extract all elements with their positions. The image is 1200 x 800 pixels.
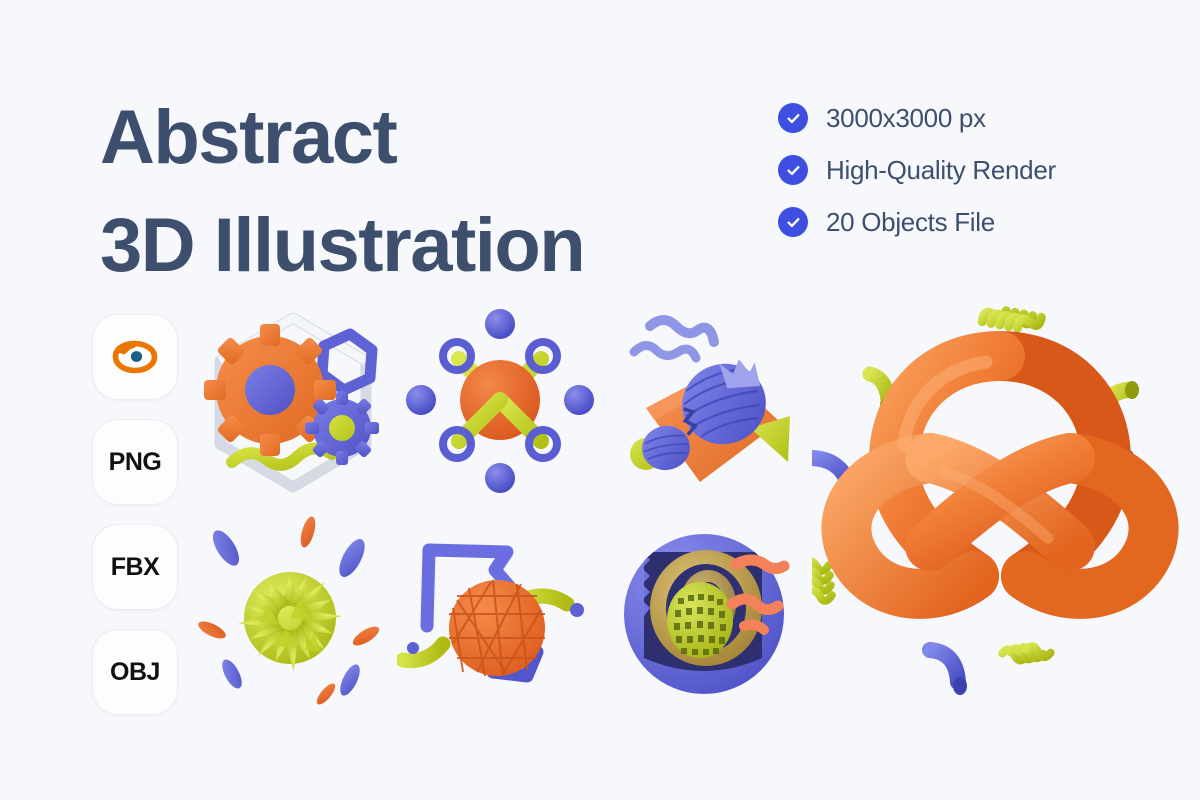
title-line-1: Abstract — [100, 84, 584, 192]
feature-label: 20 Objects File — [826, 207, 995, 238]
title-line-2: 3D Illustration — [100, 192, 584, 300]
format-badge-list: PNG FBX OBJ — [92, 314, 178, 734]
feature-list: 3000x3000 px High-Quality Render 20 Obje… — [778, 92, 1056, 248]
illustration-atom-molecule-cross[interactable] — [397, 296, 603, 508]
page-title: Abstract 3D Illustration — [100, 84, 584, 300]
poster-canvas: Abstract 3D Illustration 3000x3000 px Hi… — [0, 0, 1200, 800]
illustration-trefoil-knot-hero[interactable] — [812, 292, 1188, 720]
illustration-spiky-burst-ball[interactable] — [190, 508, 396, 720]
check-circle-icon — [778, 155, 808, 185]
format-badge-label: FBX — [111, 553, 160, 582]
illustration-geodesic-sphere-tubes[interactable] — [397, 508, 603, 720]
illustration-gears-hexagon-frame[interactable] — [190, 296, 396, 508]
illustration-twisted-spiral-plate[interactable] — [604, 296, 810, 508]
format-badge-fbx[interactable]: FBX — [92, 524, 178, 610]
blender-logo-icon — [111, 334, 159, 381]
format-badge-label: PNG — [109, 448, 162, 477]
format-badge-png[interactable]: PNG — [92, 419, 178, 505]
format-badge-blender[interactable] — [92, 314, 178, 400]
feature-item: High-Quality Render — [778, 144, 1056, 196]
check-circle-icon — [778, 103, 808, 133]
illustration-cutaway-sphere-core[interactable] — [604, 508, 810, 720]
feature-item: 20 Objects File — [778, 196, 1056, 248]
feature-item: 3000x3000 px — [778, 92, 1056, 144]
format-badge-obj[interactable]: OBJ — [92, 629, 178, 715]
feature-label: 3000x3000 px — [826, 103, 986, 134]
illustration-grid — [190, 296, 810, 720]
check-circle-icon — [778, 207, 808, 237]
format-badge-label: OBJ — [110, 658, 160, 687]
feature-label: High-Quality Render — [826, 155, 1056, 186]
